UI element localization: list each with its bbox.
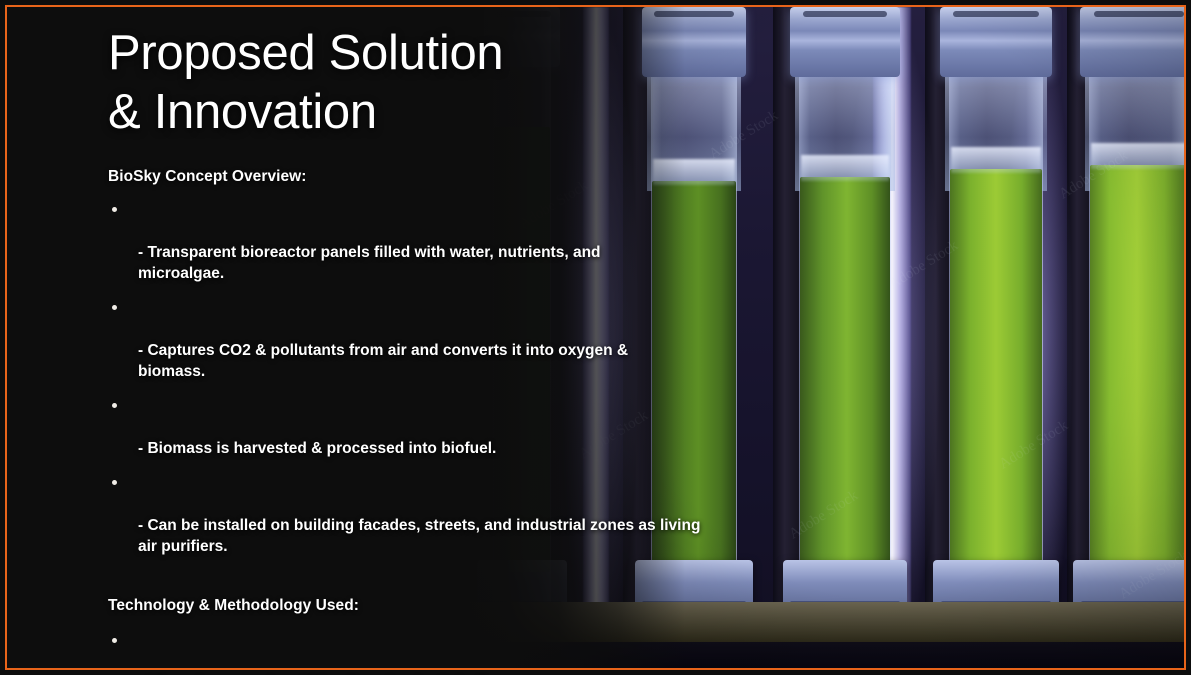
bullet-dot-icon: [112, 403, 117, 408]
bullet-dot-icon: [112, 480, 117, 485]
spacer: [108, 142, 760, 168]
bullet-dot-icon: [112, 305, 117, 310]
section-heading-concept: BioSky Concept Overview:: [108, 168, 760, 186]
list-item: - Biomass is harvested & processed into …: [108, 396, 728, 459]
section-heading-technology: Technology & Methodology Used:: [108, 597, 760, 615]
bullet-list-concept: - Transparent bioreactor panels filled w…: [108, 200, 760, 557]
list-item-text: - Can be installed on building facades, …: [138, 517, 700, 555]
bullet-dot-icon: [112, 207, 117, 212]
page-title: Proposed Solution & Innovation: [108, 24, 760, 142]
list-item: - Captures CO2 & pollutants from air and…: [108, 298, 668, 382]
presentation-slide: Adobe Stock Adobe Stock Adobe Stock Adob…: [0, 0, 1191, 675]
spacer: [108, 571, 760, 597]
bullet-dot-icon: [112, 638, 117, 643]
list-item-text: - Biomass is harvested & processed into …: [138, 440, 496, 457]
list-item-text: - Captures CO2 & pollutants from air and…: [138, 342, 628, 380]
list-item-text: - Transparent bioreactor panels filled w…: [138, 244, 601, 282]
list-item: - Microalgae species: Chlorella vulgaris…: [108, 631, 728, 675]
list-item: - Transparent bioreactor panels filled w…: [108, 200, 653, 284]
list-item: - Can be installed on building facades, …: [108, 473, 703, 557]
bullet-list-technology: - Microalgae species: Chlorella vulgaris…: [108, 631, 760, 675]
slide-text-content: Proposed Solution & Innovation BioSky Co…: [0, 0, 760, 675]
